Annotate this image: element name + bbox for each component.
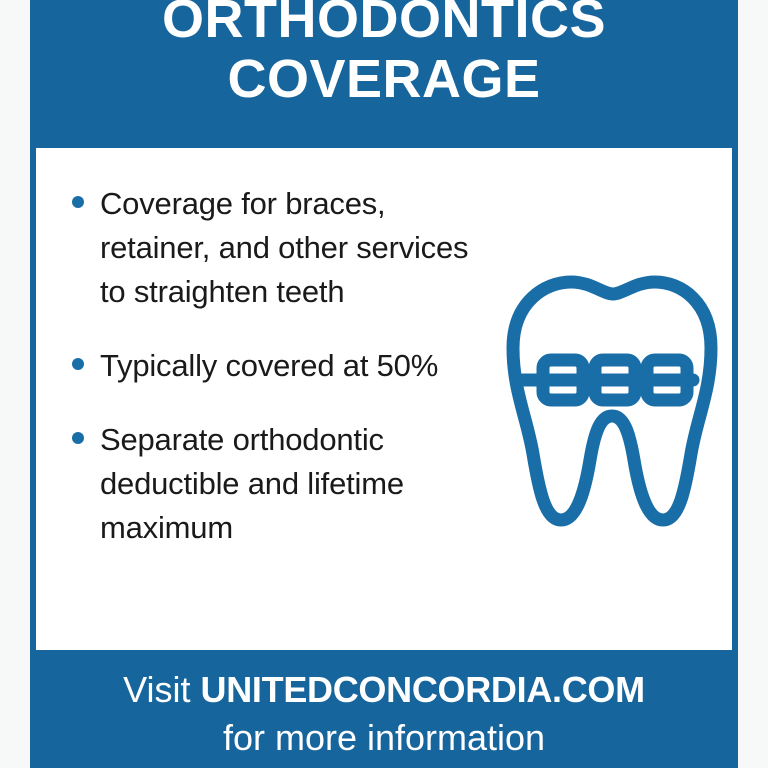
bullet-dot-icon bbox=[72, 196, 84, 208]
tooth-illustration bbox=[491, 268, 731, 538]
orthodontics-coverage-poster: ORTHODONTICS COVERAGE Coverage for brace… bbox=[30, 0, 738, 768]
header-title-line-1: ORTHODONTICS bbox=[162, 0, 606, 50]
bullet-text: Coverage for braces, retainer, and other… bbox=[100, 182, 472, 314]
poster-footer: Visit UNITEDCONCORDIA.COM for more infor… bbox=[30, 650, 738, 768]
list-item: Typically covered at 50% bbox=[72, 344, 472, 388]
footer-website-url[interactable]: UNITEDCONCORDIA.COM bbox=[201, 669, 645, 710]
poster-header: ORTHODONTICS COVERAGE bbox=[30, 0, 738, 148]
tooth-with-braces-icon bbox=[491, 268, 731, 538]
footer-subline: for more information bbox=[223, 714, 545, 762]
bullet-dot-icon bbox=[72, 358, 84, 370]
coverage-bullet-list: Coverage for braces, retainer, and other… bbox=[72, 182, 472, 580]
content-card: Coverage for braces, retainer, and other… bbox=[36, 148, 732, 650]
list-item: Separate orthodontic deductible and life… bbox=[72, 418, 472, 550]
bullet-text: Typically covered at 50% bbox=[100, 344, 438, 388]
bullet-text: Separate orthodontic deductible and life… bbox=[100, 418, 472, 550]
bullet-dot-icon bbox=[72, 432, 84, 444]
header-title-line-2: COVERAGE bbox=[227, 48, 540, 110]
footer-visit-line: Visit UNITEDCONCORDIA.COM bbox=[123, 666, 645, 714]
list-item: Coverage for braces, retainer, and other… bbox=[72, 182, 472, 314]
footer-visit-label: Visit bbox=[123, 669, 190, 710]
